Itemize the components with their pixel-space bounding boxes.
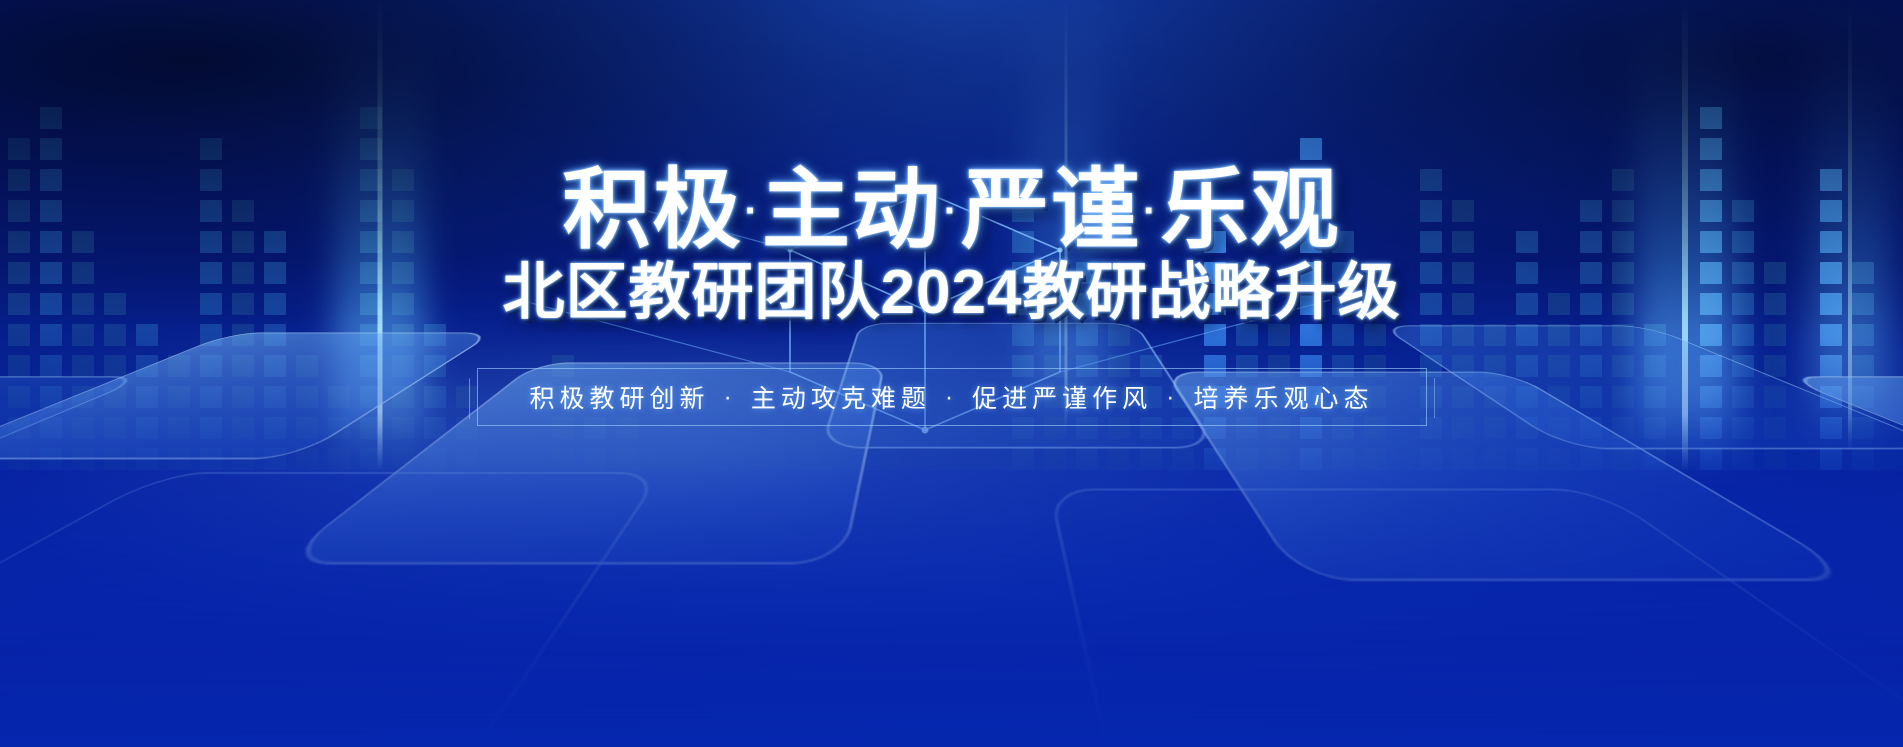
tagline-separator: · — [931, 383, 972, 412]
eq-column — [136, 310, 158, 470]
tagline-item-4: 培养乐观心态 — [1194, 379, 1374, 415]
headline-word-2: 主动 — [762, 160, 942, 259]
eq-column — [168, 340, 190, 470]
floor-tile — [1048, 488, 1903, 747]
eq-column — [328, 365, 350, 470]
headline-separator: · — [742, 189, 761, 233]
headline-separator: · — [1141, 189, 1160, 233]
tagline-item-2: 主动攻克难题 — [751, 379, 931, 415]
eq-column — [264, 220, 286, 470]
tagline-item-3: 促进严谨作风 — [972, 379, 1152, 415]
tagline-item-1: 积极教研创新 — [529, 379, 709, 415]
headline: 积极·主动·严谨·乐观 — [0, 166, 1903, 254]
eq-column — [72, 220, 94, 470]
eq-column — [424, 320, 446, 470]
eq-column — [1644, 320, 1666, 470]
headline-word-4: 乐观 — [1161, 160, 1341, 259]
headline-separator: · — [942, 189, 961, 233]
banner-canvas: 积极·主动·严谨·乐观 北区教研团队2024教研战略升级 积极教研创新·主动攻克… — [0, 0, 1903, 747]
tagline-separator: · — [1152, 383, 1193, 412]
floor-tile — [0, 472, 663, 747]
subheadline: 北区教研团队2024教研战略升级 — [0, 262, 1903, 324]
tagline-frame-wrapper: 积极教研创新·主动攻克难题·促进严谨作风·培养乐观心态 — [477, 368, 1427, 426]
eq-column — [1516, 220, 1538, 470]
tagline-separator: · — [709, 383, 750, 412]
eq-column — [1484, 320, 1506, 470]
headline-word-1: 积极 — [562, 160, 742, 259]
headline-word-3: 严谨 — [961, 160, 1141, 259]
tagline: 积极教研创新·主动攻克难题·促进严谨作风·培养乐观心态 — [477, 368, 1427, 426]
eq-column — [296, 340, 318, 470]
